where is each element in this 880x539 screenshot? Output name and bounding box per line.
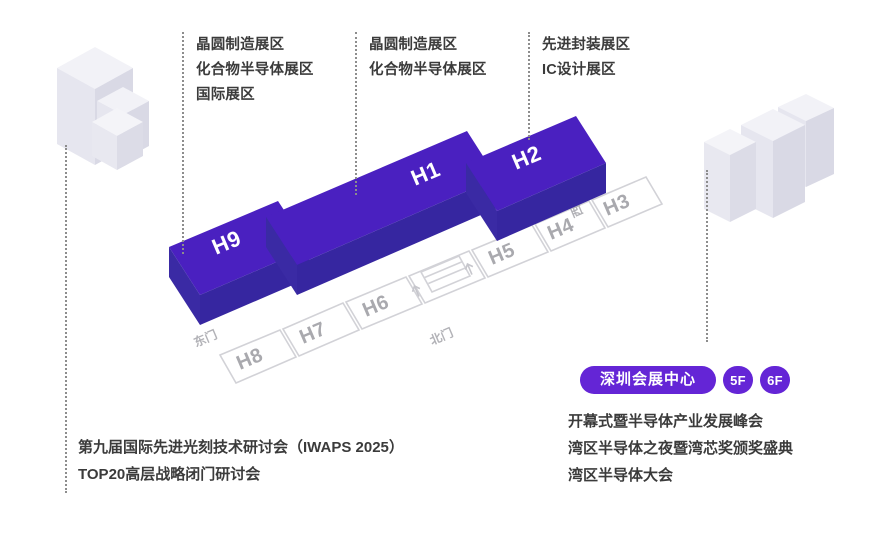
annotation-line: 第九届国际先进光刻技术研讨会（IWAPS 2025） [78, 434, 404, 461]
venue-badge-row: 深圳会展中心 5F 6F [580, 366, 790, 394]
connector-line-right-buildings [706, 170, 708, 342]
connector-line-group-left [182, 32, 184, 254]
exhibition-floorplan-infographic: H8 H7 H6 H5 H4 H3 东门 北门 西门 [0, 0, 880, 539]
gate-label-north: 北门 [427, 325, 455, 348]
annotation-line: 晶圆制造展区 [196, 33, 314, 58]
annotation-line: TOP20高层战略闭门研讨会 [78, 461, 404, 488]
annotation-line: 湾区半导体之夜暨湾芯奖颁奖盛典 [568, 435, 793, 462]
gate-label-east: 东门 [191, 327, 219, 350]
annotation-line: IC设计展区 [542, 58, 630, 83]
venue-name-badge[interactable]: 深圳会展中心 [580, 366, 716, 394]
annotation-line: 化合物半导体展区 [369, 58, 487, 83]
annotation-bottom-left: 第九届国际先进光刻技术研讨会（IWAPS 2025） TOP20高层战略闭门研讨… [78, 434, 404, 488]
floor-chip-5f[interactable]: 5F [723, 366, 753, 394]
annotation-bottom-right: 开幕式暨半导体产业发展峰会 湾区半导体之夜暨湾芯奖颁奖盛典 湾区半导体大会 [568, 408, 793, 489]
connector-line-group-right [528, 32, 530, 140]
annotation-line: 化合物半导体展区 [196, 58, 314, 83]
left-buildings-decoration [57, 47, 149, 170]
floor-chip-6f[interactable]: 6F [760, 366, 790, 394]
annotation-group-left: 晶圆制造展区 化合物半导体展区 国际展区 [196, 33, 314, 108]
annotation-group-right: 先进封装展区 IC设计展区 [542, 33, 630, 83]
annotation-line: 湾区半导体大会 [568, 462, 793, 489]
north-gate-structure [409, 251, 485, 303]
connector-line-group-middle [355, 32, 357, 195]
right-buildings-decoration [704, 94, 834, 222]
annotation-line: 国际展区 [196, 83, 314, 108]
annotation-line: 晶圆制造展区 [369, 33, 487, 58]
annotation-line: 开幕式暨半导体产业发展峰会 [568, 408, 793, 435]
connector-line-left-buildings [65, 145, 67, 493]
annotation-group-middle: 晶圆制造展区 化合物半导体展区 [369, 33, 487, 83]
annotation-line: 先进封装展区 [542, 33, 630, 58]
